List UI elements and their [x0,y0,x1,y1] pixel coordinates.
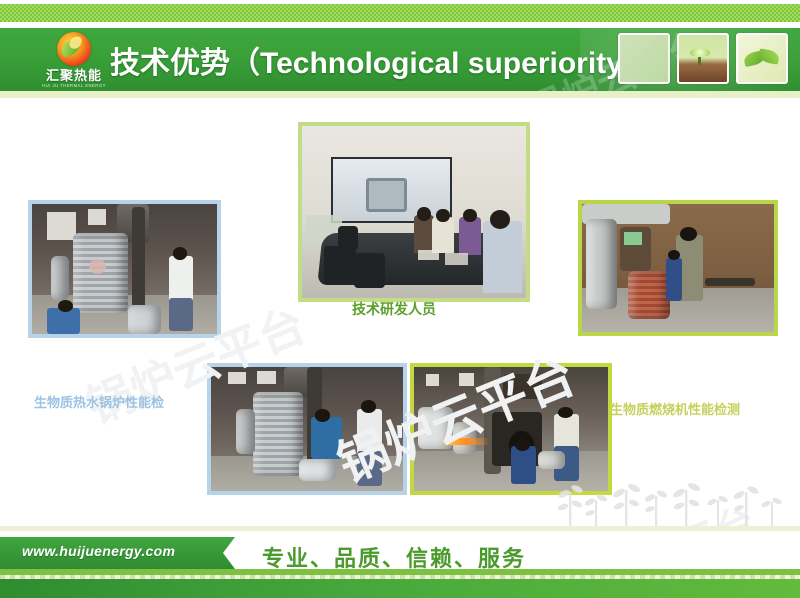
header-white-strip [0,98,800,105]
header-thumbnail-strip [618,33,788,84]
slide-footer: www.huijuenergy.com 专业、品质、信赖、服务 九龙锅炉云平台w… [0,508,800,598]
caption-center: 技术研发人员 [352,299,436,319]
logo-chinese-name: 汇聚热能 [46,69,102,82]
header-checker-strip [0,4,800,22]
header-pale-strip [0,91,800,98]
photo-boiler-test-bottom-center [207,363,407,495]
blank-tile-icon [618,33,670,84]
footer-website-url[interactable]: www.huijuenergy.com [22,543,175,559]
page-title: 技术优势（Technological superiority） [110,33,653,87]
caption-right: 生物质燃烧机性能检测 [610,399,740,418]
sprout-in-soil-icon [677,33,729,84]
flame-leaf-logo-icon [57,32,91,66]
caption-left: 生物质热水锅炉性能检 [34,392,164,411]
company-logo: 汇聚热能 HUI JU THERMAL ENERGY [26,30,122,90]
logo-english-name: HUI JU THERMAL ENERGY [42,84,106,88]
presentation-slide: 锅炉云平台 锅炉云平台 锅炉云平台 锅炉云平台 汇聚热能 HUI JU THER… [0,0,800,598]
green-leaves-icon [736,33,788,84]
footer-bottom-green-bar: 九龙锅炉云平台www.guoluyun.com [0,579,800,598]
photo-rnd-meeting-center [298,122,530,302]
photo-boiler-inspection-left [28,200,221,338]
photo-burner-test-right [578,200,778,336]
slide-header: 锅炉云平台 汇聚热能 HUI JU THERMAL ENERGY 技术优势（Te… [0,0,800,105]
